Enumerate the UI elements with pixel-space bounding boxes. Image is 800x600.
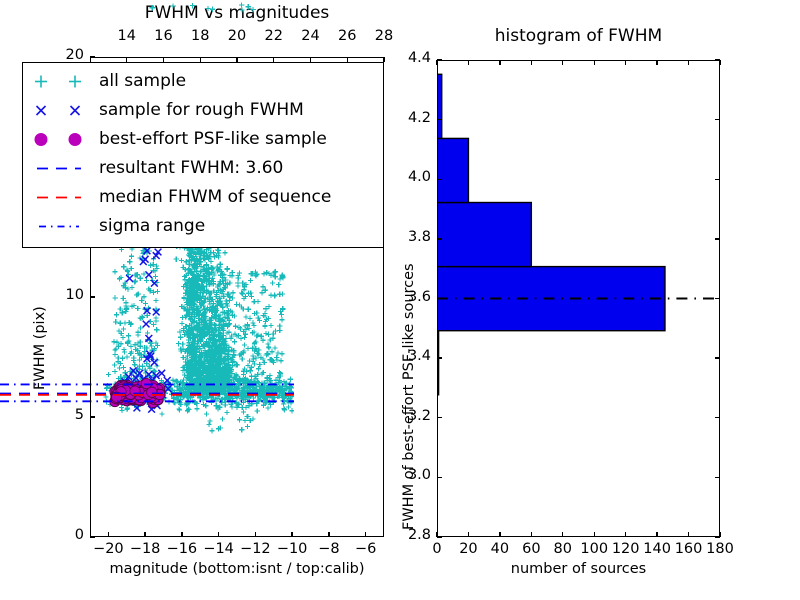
tick-mark <box>562 60 563 65</box>
top-tick-label: 26 <box>335 28 359 44</box>
dashed-line-icon-blue <box>23 154 99 183</box>
filled-circle-marker-icon <box>23 125 99 154</box>
tick-mark <box>437 536 442 537</box>
legend-label: best-effort PSF-like sample <box>99 125 327 154</box>
tick-mark <box>715 417 720 418</box>
legend-label: all sample <box>99 67 186 96</box>
tick-mark <box>437 59 442 60</box>
bottom-tick-label: −12 <box>238 541 272 557</box>
tick-mark <box>291 532 292 537</box>
tick-mark <box>328 532 329 537</box>
tick-mark <box>181 532 182 537</box>
tick-mark <box>90 416 95 417</box>
y-tick-label: 4.2 <box>397 110 431 126</box>
top-tick-label: 20 <box>225 28 249 44</box>
bottom-tick-label: −8 <box>312 541 346 557</box>
bottom-tick-label: −14 <box>202 541 236 557</box>
tick-mark <box>218 532 219 537</box>
legend-box: all sample sample for rough FWHM best-ef… <box>22 62 384 248</box>
legend-item-median-fwhm[interactable]: median FHWM of sequence <box>23 183 383 212</box>
tick-mark <box>656 60 657 65</box>
left-panel-xlabel: magnitude (bottom:isnt / top:calib) <box>55 561 419 577</box>
tick-mark <box>594 60 595 65</box>
left-panel-ylabel: FWHM (pix) <box>32 306 48 390</box>
tick-mark <box>594 532 595 537</box>
tick-mark <box>108 532 109 537</box>
y-tick-label: 4.4 <box>397 50 431 66</box>
bottom-tick-label: −16 <box>165 541 199 557</box>
tick-mark <box>468 60 469 65</box>
right-panel-frame <box>437 60 720 537</box>
tick-mark <box>437 298 442 299</box>
legend-item-all-sample[interactable]: all sample <box>23 67 383 96</box>
tick-mark <box>499 532 500 537</box>
tick-mark <box>625 532 626 537</box>
tick-mark <box>715 477 720 478</box>
x-tick-label: 180 <box>703 541 737 557</box>
tick-mark <box>437 119 442 120</box>
legend-item-psf-sample[interactable]: best-effort PSF-like sample <box>23 125 383 154</box>
y-tick-label: 10 <box>56 287 84 303</box>
tick-mark <box>499 60 500 65</box>
tick-mark <box>688 60 689 65</box>
top-tick-label: 24 <box>299 28 323 44</box>
tick-mark <box>719 60 720 65</box>
tick-mark <box>437 417 442 418</box>
figure-canvas: FWHM vs magnitudes 1416182022242628 −20−… <box>0 0 800 600</box>
tick-mark <box>468 532 469 537</box>
x-tick-label: 160 <box>672 541 706 557</box>
tick-mark <box>715 357 720 358</box>
dashed-line-icon-red <box>23 183 99 212</box>
plus-marker-icon <box>23 67 99 96</box>
right-panel-ylabel: FWHM of best-effort PSF-like sources <box>401 263 417 530</box>
x-tick-label: 0 <box>420 541 454 557</box>
tick-mark <box>90 56 95 57</box>
tick-mark <box>255 532 256 537</box>
tick-mark <box>562 532 563 537</box>
x-tick-label: 120 <box>609 541 643 557</box>
tick-mark <box>715 59 720 60</box>
tick-mark <box>656 532 657 537</box>
tick-mark <box>715 238 720 239</box>
top-tick-label: 16 <box>152 28 176 44</box>
legend-label: sigma range <box>99 212 205 241</box>
x-tick-label: 40 <box>483 541 517 557</box>
tick-mark <box>715 536 720 537</box>
y-tick-label: 0 <box>56 527 84 543</box>
tick-mark <box>437 477 442 478</box>
tick-mark <box>715 179 720 180</box>
top-tick-label: 28 <box>372 28 396 44</box>
x-tick-label: 20 <box>451 541 485 557</box>
legend-item-resultant-fwhm[interactable]: resultant FWHM: 3.60 <box>23 154 383 183</box>
x-tick-label: 80 <box>546 541 580 557</box>
dashdot-line-icon <box>23 212 99 241</box>
tick-mark <box>365 532 366 537</box>
tick-mark <box>625 60 626 65</box>
tick-mark <box>531 532 532 537</box>
legend-label: sample for rough FWHM <box>99 96 304 125</box>
bottom-tick-label: −10 <box>275 541 309 557</box>
tick-mark <box>715 298 720 299</box>
tick-mark <box>437 179 442 180</box>
legend-item-sigma-range[interactable]: sigma range <box>23 212 383 241</box>
tick-mark <box>90 536 95 537</box>
legend-item-rough-fwhm[interactable]: sample for rough FWHM <box>23 96 383 125</box>
tick-mark <box>715 119 720 120</box>
tick-mark <box>437 238 442 239</box>
bottom-tick-label: −6 <box>349 541 383 557</box>
y-tick-label: 4.0 <box>397 169 431 185</box>
x-tick-label: 140 <box>640 541 674 557</box>
tick-mark <box>90 296 95 297</box>
top-tick-label: 22 <box>262 28 286 44</box>
y-tick-label: 20 <box>56 47 84 63</box>
x-tick-label: 100 <box>577 541 611 557</box>
top-tick-label: 14 <box>115 28 139 44</box>
x-tick-label: 60 <box>514 541 548 557</box>
tick-mark <box>437 357 442 358</box>
tick-mark <box>436 60 437 65</box>
bottom-tick-label: −20 <box>91 541 125 557</box>
legend-label: resultant FWHM: 3.60 <box>99 154 283 183</box>
cross-marker-icon <box>23 96 99 125</box>
y-tick-label: 3.8 <box>397 229 431 245</box>
y-tick-label: 5 <box>56 407 84 423</box>
right-panel-title: histogram of FWHM <box>437 26 720 46</box>
right-panel-xlabel: number of sources <box>437 561 720 577</box>
top-tick-label: 18 <box>188 28 212 44</box>
bottom-tick-label: −18 <box>128 541 162 557</box>
tick-mark <box>144 532 145 537</box>
tick-mark <box>531 60 532 65</box>
tick-mark <box>688 532 689 537</box>
legend-label: median FHWM of sequence <box>99 183 331 212</box>
